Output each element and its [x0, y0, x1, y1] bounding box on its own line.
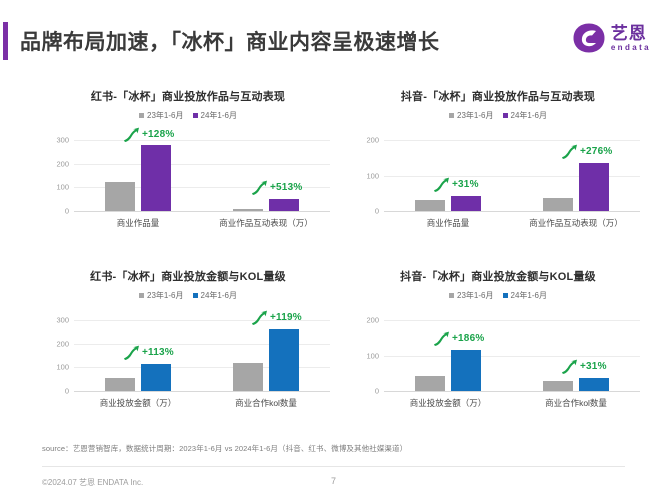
page-title: 品牌布局加速，「冰杯」商业内容呈极速增长 [20, 26, 440, 56]
growth-arrow-icon [251, 180, 268, 195]
legend-swatch-icon [193, 113, 198, 118]
x-axis-category-label: 商业作品互动表现（万） [529, 217, 623, 229]
y-axis-tick-label: 0 [65, 207, 69, 216]
legend-item[interactable]: 23年1-6月 [449, 290, 493, 301]
growth-annotation: +31% [433, 177, 479, 192]
chart-title: 抖音-「冰杯」商业投放作品与互动表现 [348, 88, 648, 102]
growth-percentage-label: +128% [142, 129, 174, 140]
page-number: 7 [0, 476, 667, 486]
y-axis-tick-label: 0 [375, 207, 379, 216]
y-axis-tick-label: 100 [56, 363, 69, 372]
growth-annotation: +128% [123, 127, 174, 142]
growth-annotation: +31% [561, 359, 607, 374]
source-note: source：艺恩营销智库，数据统计周期：2023年1-6月 vs 2024年1… [42, 443, 407, 454]
x-axis-baseline [384, 211, 640, 212]
growth-annotation: +513% [251, 180, 302, 195]
chart-plot-area: 0100200商业作品量+31%商业作品互动表现（万）+276% [348, 127, 648, 245]
x-axis-category-label: 商业作品量 [117, 217, 160, 229]
y-axis-tick-label: 200 [56, 339, 69, 348]
growth-percentage-label: +31% [580, 361, 607, 372]
bar[interactable] [415, 200, 445, 211]
chart-plot-area: 0100200商业投放金额（万）+186%商业合作kol数量+31% [348, 307, 648, 425]
legend-swatch-icon [503, 113, 508, 118]
x-axis-category-label: 商业作品互动表现（万） [219, 217, 313, 229]
bar[interactable] [269, 199, 299, 211]
bar[interactable] [141, 145, 171, 211]
chart-legend: 23年1-6月24年1-6月 [348, 109, 648, 121]
legend-label: 23年1-6月 [457, 110, 493, 121]
x-axis-baseline [74, 211, 330, 212]
x-axis-category-label: 商业投放金额（万） [410, 397, 487, 409]
bar[interactable] [543, 198, 573, 211]
legend-label: 24年1-6月 [511, 290, 547, 301]
brand-name-cn: 艺恩 [611, 25, 647, 42]
gridline [384, 140, 640, 141]
legend-swatch-icon [449, 113, 454, 118]
legend-swatch-icon [139, 293, 144, 298]
footer-divider [42, 466, 625, 467]
growth-percentage-label: +119% [270, 312, 302, 323]
legend-swatch-icon [193, 293, 198, 298]
chart-legend: 23年1-6月24年1-6月 [348, 289, 648, 301]
chart-title: 抖音-「冰杯」商业投放金额与KOL量级 [348, 268, 648, 282]
legend-item[interactable]: 24年1-6月 [503, 290, 547, 301]
bar[interactable] [543, 381, 573, 391]
legend-label: 23年1-6月 [147, 290, 183, 301]
legend-label: 24年1-6月 [201, 110, 237, 121]
growth-annotation: +186% [433, 331, 484, 346]
y-axis-tick-label: 200 [366, 316, 379, 325]
x-axis-category-label: 商业合作kol数量 [235, 397, 297, 409]
chart-legend: 23年1-6月24年1-6月 [38, 109, 338, 121]
growth-arrow-icon [433, 331, 450, 346]
growth-percentage-label: +31% [452, 179, 479, 190]
y-axis-tick-label: 100 [366, 171, 379, 180]
legend-item[interactable]: 24年1-6月 [193, 110, 237, 121]
legend-item[interactable]: 23年1-6月 [139, 290, 183, 301]
brand-name-en: endata [611, 44, 651, 52]
chart-plot-area: 0100200300商业作品量+128%商业作品互动表现（万）+513% [38, 127, 338, 245]
chart-plot-area: 0100200300商业投放金额（万）+113%商业合作kol数量+119% [38, 307, 338, 425]
bar[interactable] [415, 376, 445, 391]
growth-arrow-icon [433, 177, 450, 192]
legend-swatch-icon [503, 293, 508, 298]
growth-arrow-icon [561, 359, 578, 374]
x-axis-baseline [74, 391, 330, 392]
x-axis-category-label: 商业作品量 [427, 217, 470, 229]
legend-item[interactable]: 24年1-6月 [503, 110, 547, 121]
chart-card-xiaohongshu-spend: 红书-「冰杯」商业投放金额与KOL量级23年1-6月24年1-6月0100200… [38, 268, 338, 436]
bar[interactable] [233, 363, 263, 391]
bar[interactable] [451, 350, 481, 391]
bar[interactable] [579, 378, 609, 391]
x-axis-category-label: 商业合作kol数量 [545, 397, 607, 409]
growth-percentage-label: +513% [270, 182, 302, 193]
chart-card-douyin-spend: 抖音-「冰杯」商业投放金额与KOL量级23年1-6月24年1-6月0100200… [348, 268, 648, 436]
legend-swatch-icon [449, 293, 454, 298]
x-axis-baseline [384, 391, 640, 392]
growth-annotation: +113% [123, 345, 174, 360]
y-axis-tick-label: 0 [375, 387, 379, 396]
chart-title: 红书-「冰杯」商业投放作品与互动表现 [38, 88, 338, 102]
legend-label: 24年1-6月 [511, 110, 547, 121]
gridline [384, 356, 640, 357]
y-axis-tick-label: 100 [366, 351, 379, 360]
y-axis-tick-label: 200 [56, 159, 69, 168]
brand-wordmark: 艺恩 endata [611, 25, 651, 52]
y-axis-tick-label: 300 [56, 316, 69, 325]
bar[interactable] [451, 196, 481, 211]
y-axis-tick-label: 100 [56, 183, 69, 192]
growth-percentage-label: +276% [580, 146, 612, 157]
growth-arrow-icon [123, 345, 140, 360]
legend-label: 23年1-6月 [147, 110, 183, 121]
growth-annotation: +119% [251, 310, 302, 325]
bar[interactable] [579, 163, 609, 211]
brand-logo: 艺恩 endata [572, 22, 651, 54]
page-header: 品牌布局加速，「冰杯」商业内容呈极速增长 艺恩 endata [0, 0, 667, 78]
growth-arrow-icon [251, 310, 268, 325]
legend-item[interactable]: 24年1-6月 [193, 290, 237, 301]
bar[interactable] [141, 364, 171, 391]
legend-item[interactable]: 23年1-6月 [139, 110, 183, 121]
bar[interactable] [233, 209, 263, 211]
title-accent-bar [3, 22, 8, 60]
chart-title: 红书-「冰杯」商业投放金额与KOL量级 [38, 268, 338, 282]
chart-legend: 23年1-6月24年1-6月 [38, 289, 338, 301]
legend-swatch-icon [139, 113, 144, 118]
growth-arrow-icon [123, 127, 140, 142]
gridline [74, 140, 330, 141]
growth-percentage-label: +113% [142, 347, 174, 358]
gridline [74, 164, 330, 165]
chart-card-xiaohongshu-works: 红书-「冰杯」商业投放作品与互动表现23年1-6月24年1-6月01002003… [38, 88, 338, 256]
endata-mark-icon [572, 22, 606, 54]
y-axis-tick-label: 200 [366, 136, 379, 145]
legend-label: 23年1-6月 [457, 290, 493, 301]
legend-label: 24年1-6月 [201, 290, 237, 301]
chart-card-douyin-works: 抖音-「冰杯」商业投放作品与互动表现23年1-6月24年1-6月0100200商… [348, 88, 648, 256]
bar[interactable] [105, 182, 135, 211]
y-axis-tick-label: 300 [56, 136, 69, 145]
y-axis-tick-label: 0 [65, 387, 69, 396]
legend-item[interactable]: 23年1-6月 [449, 110, 493, 121]
bar[interactable] [269, 329, 299, 391]
growth-arrow-icon [561, 144, 578, 159]
bar[interactable] [105, 378, 135, 391]
growth-percentage-label: +186% [452, 333, 484, 344]
gridline [384, 320, 640, 321]
x-axis-category-label: 商业投放金额（万） [100, 397, 177, 409]
growth-annotation: +276% [561, 144, 612, 159]
